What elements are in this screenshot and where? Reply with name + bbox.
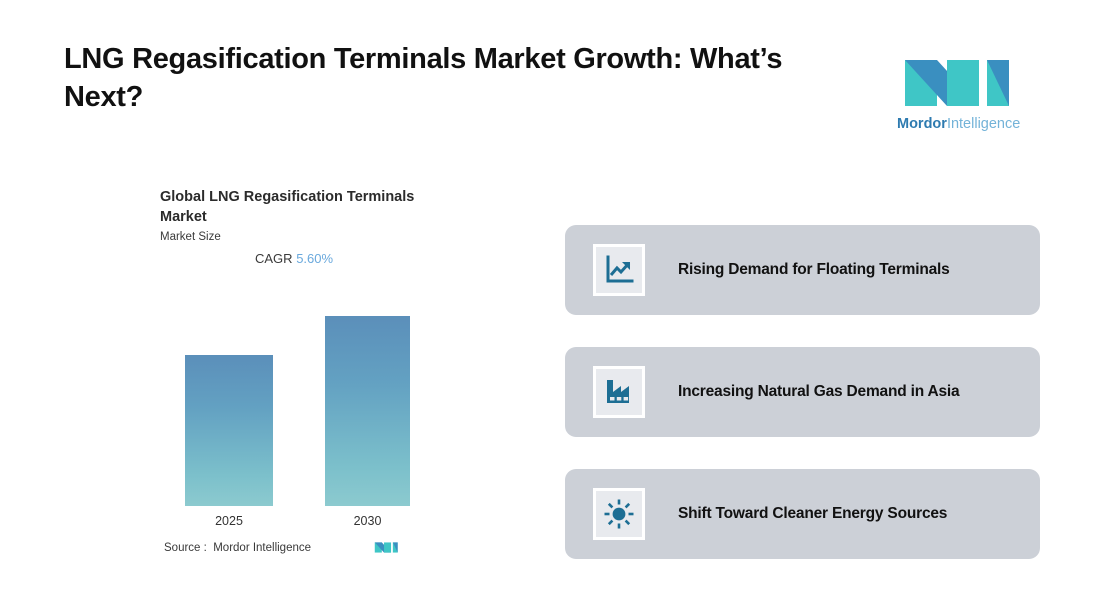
sun-icon — [603, 498, 635, 530]
insight-card-asia-gas-demand[interactable]: Increasing Natural Gas Demand in Asia — [565, 347, 1040, 437]
brand-wordmark: MordorIntelligence — [897, 116, 1015, 132]
mordor-m-mark-icon — [373, 540, 399, 555]
insight-card-label: Increasing Natural Gas Demand in Asia — [678, 383, 959, 401]
insight-card-label: Rising Demand for Floating Terminals — [678, 261, 950, 279]
brand-logo: MordorIntelligence — [897, 52, 1015, 132]
insight-card-cleaner-energy[interactable]: Shift Toward Cleaner Energy Sources — [565, 469, 1040, 559]
line-chart-trending-up-icon — [603, 254, 635, 286]
icon-box — [593, 244, 645, 296]
bar-2030 — [325, 316, 410, 506]
cagr-value: 5.60% — [296, 251, 333, 266]
insight-card-floating-terminals[interactable]: Rising Demand for Floating Terminals — [565, 225, 1040, 315]
chart-title: Global LNG Regasification Terminals Mark… — [160, 188, 422, 227]
cagr-annotation: CAGR 5.60% — [160, 251, 430, 266]
chart-subtitle: Market Size — [160, 231, 430, 243]
source-text: Source : Mordor Intelligence — [164, 542, 311, 554]
mordor-m-mark-icon — [897, 52, 1015, 114]
bar-2025 — [185, 355, 273, 506]
insight-card-label: Shift Toward Cleaner Energy Sources — [678, 505, 947, 523]
x-axis-label-2030: 2030 — [325, 514, 410, 528]
icon-box — [593, 488, 645, 540]
page-title: LNG Regasification Terminals Market Grow… — [64, 40, 854, 117]
cagr-label: CAGR — [255, 251, 293, 266]
insight-cards: Rising Demand for Floating Terminals Inc… — [565, 225, 1040, 591]
brand-name-light: Intelligence — [947, 116, 1020, 132]
header: LNG Regasification Terminals Market Grow… — [0, 0, 1116, 150]
x-axis-label-2025: 2025 — [185, 514, 273, 528]
factory-icon — [603, 376, 635, 408]
bar-chart-plot-area — [160, 308, 430, 506]
chart-source: Source : Mordor Intelligence — [164, 540, 430, 555]
icon-box — [593, 366, 645, 418]
chart-panel: Global LNG Regasification Terminals Mark… — [160, 188, 430, 560]
brand-name-bold: Mordor — [897, 116, 947, 132]
